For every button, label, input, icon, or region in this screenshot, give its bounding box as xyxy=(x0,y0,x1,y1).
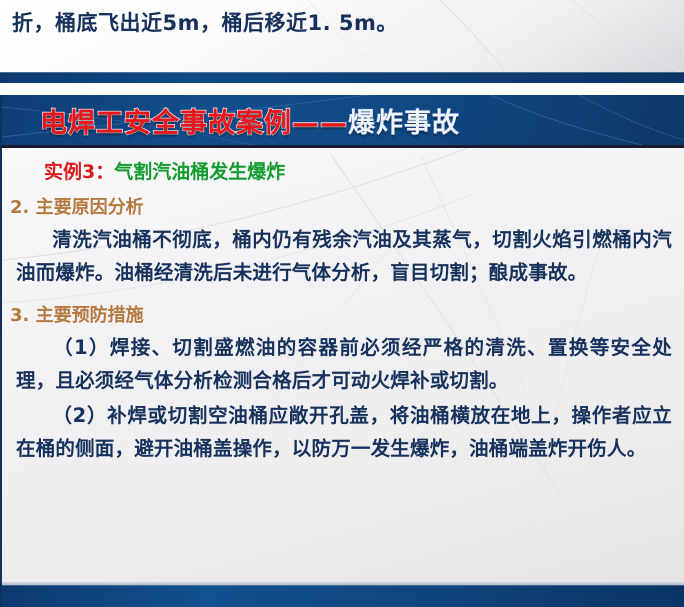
banner-title: 电焊工安全事故案例——爆炸事故 xyxy=(2,95,684,145)
paragraph-prevention-1: （1）焊接、切割盛燃油的容器前必须经严格的清洗、置换等安全处理，且必须经气体分析… xyxy=(2,331,684,397)
paragraph-text: （2）补焊或切割空油桶应敞开孔盖，将油桶横放在地上，操作者应立在桶的侧面，避开油… xyxy=(16,404,672,460)
case-subtitle: 实例3：气割汽油桶发生爆炸 xyxy=(44,157,285,184)
slide-separator-gap xyxy=(0,83,684,95)
paragraph-prevention-2: （2）补焊或切割空油桶应敞开孔盖，将油桶横放在地上，操作者应立在桶的侧面，避开油… xyxy=(2,399,684,465)
slide-deck-view: 折，桶底飞出近5m，桶后移近1. 5m。 电焊工安全事故案例——爆炸事故 xyxy=(0,0,684,607)
slide-footer-bar xyxy=(2,585,684,607)
banner-title-primary: 电焊工安全事故案例—— xyxy=(40,101,348,140)
paragraph-text: 清洗汽油桶不彻底，桶内仍有残余汽油及其蒸气，切割火焰引燃桶内汽油而爆炸。油桶经清… xyxy=(16,228,672,284)
previous-slide-text: 折，桶底飞出近5m，桶后移近1. 5m。 xyxy=(12,6,652,40)
section-cause-analysis: 2. 主要原因分析 清洗汽油桶不彻底，桶内仍有残余汽油及其蒸气，切割火焰引燃桶内… xyxy=(2,195,684,289)
current-slide: 电焊工安全事故案例——爆炸事故 实例3：气割汽油桶发生爆炸 2. 主要原因分析 … xyxy=(0,95,684,607)
section-heading-3: 3. 主要预防措施 xyxy=(2,303,684,329)
banner-title-secondary: 爆炸事故 xyxy=(348,101,460,140)
paragraph-text: （1）焊接、切割盛燃油的容器前必须经严格的清洗、置换等安全处理，且必须经气体分析… xyxy=(16,336,672,392)
case-subtitle-text: 气割汽油桶发生爆炸 xyxy=(114,161,285,183)
case-subtitle-label: 实例3： xyxy=(44,161,114,183)
section-prevention-measures: 3. 主要预防措施 （1）焊接、切割盛燃油的容器前必须经严格的清洗、置换等安全处… xyxy=(2,303,684,465)
slide-title-banner: 电焊工安全事故案例——爆炸事故 xyxy=(2,95,684,148)
previous-slide-fragment: 折，桶底飞出近5m，桶后移近1. 5m。 xyxy=(0,0,684,83)
slide-body-content: 2. 主要原因分析 清洗汽油桶不彻底，桶内仍有残余汽油及其蒸气，切割火焰引燃桶内… xyxy=(2,195,684,465)
section-heading-2: 2. 主要原因分析 xyxy=(2,195,684,221)
paragraph-cause-1: 清洗汽油桶不彻底，桶内仍有残余汽油及其蒸气，切割火焰引燃桶内汽油而爆炸。油桶经清… xyxy=(2,223,684,289)
previous-slide-footer-bar xyxy=(0,72,684,83)
